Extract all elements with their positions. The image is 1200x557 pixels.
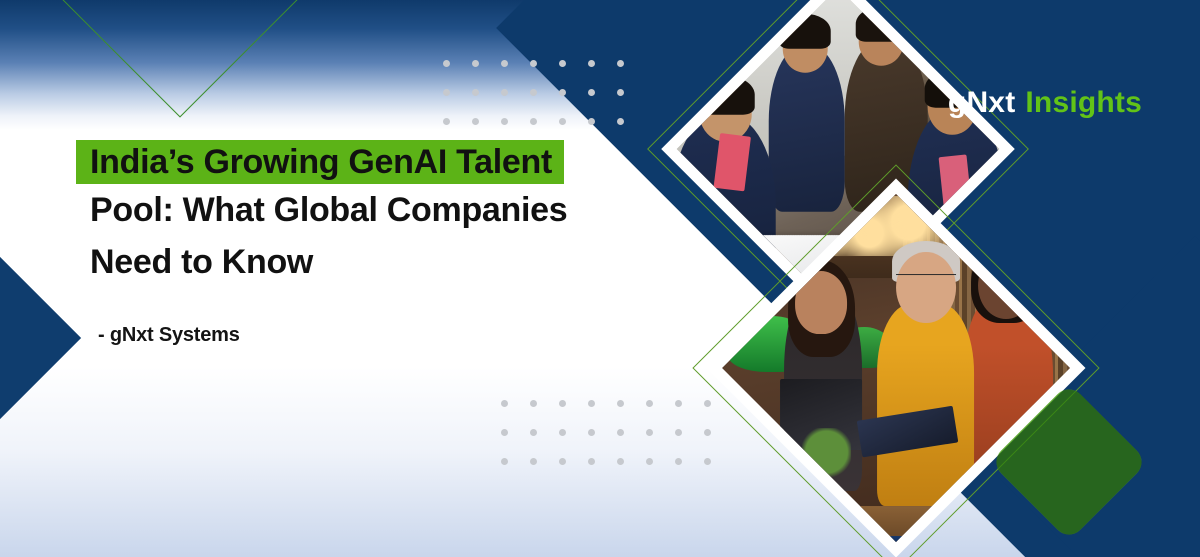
dot: [559, 429, 566, 436]
dot: [704, 458, 711, 465]
dot: [617, 429, 624, 436]
dot: [617, 60, 624, 67]
person-head: [795, 271, 847, 335]
dot: [530, 429, 537, 436]
dot: [588, 458, 595, 465]
dot: [472, 89, 479, 96]
dot: [675, 400, 682, 407]
insights-banner: India’s Growing GenAI Talent Pool: What …: [0, 0, 1200, 557]
dot: [617, 400, 624, 407]
dot: [472, 60, 479, 67]
page-title-line-2: Pool: What Global Companies: [78, 184, 678, 236]
brand-logo[interactable]: gNxtInsights: [948, 86, 1142, 120]
dot: [704, 400, 711, 407]
dot: [617, 89, 624, 96]
dot: [501, 429, 508, 436]
dot: [646, 458, 653, 465]
dot: [501, 60, 508, 67]
coffee-cup: [703, 281, 755, 311]
dot: [501, 89, 508, 96]
dot: [530, 458, 537, 465]
dot: [559, 60, 566, 67]
dot: [530, 60, 537, 67]
dot: [530, 118, 537, 125]
headline-block: India’s Growing GenAI Talent Pool: What …: [78, 140, 678, 347]
dot: [675, 458, 682, 465]
dot: [559, 89, 566, 96]
dot: [443, 89, 450, 96]
dot: [617, 118, 624, 125]
dot-grid-top: [443, 60, 624, 125]
dot: [501, 458, 508, 465]
dot: [588, 118, 595, 125]
dot: [443, 118, 450, 125]
dot: [588, 89, 595, 96]
eyeglasses-icon: [896, 275, 956, 290]
dot: [588, 60, 595, 67]
dot: [588, 429, 595, 436]
dot: [501, 118, 508, 125]
dot: [559, 118, 566, 125]
dot: [646, 400, 653, 407]
dot-grid-bottom: [501, 400, 711, 465]
logo-suffix-text: Insights: [1025, 86, 1142, 119]
dot: [472, 118, 479, 125]
page-title-line-1: India’s Growing GenAI Talent: [76, 140, 564, 184]
dot: [675, 429, 682, 436]
dot: [530, 89, 537, 96]
dot: [443, 60, 450, 67]
page-title-line-3: Need to Know: [78, 236, 678, 288]
dot: [530, 400, 537, 407]
byline: - gNxt Systems: [78, 324, 678, 347]
dot: [704, 429, 711, 436]
dot: [617, 458, 624, 465]
person-man-mustard-shirt: [877, 304, 974, 506]
dot: [501, 400, 508, 407]
logo-brand-text: gNxt: [948, 86, 1015, 119]
dot: [646, 429, 653, 436]
dot: [559, 458, 566, 465]
dot: [559, 400, 566, 407]
dot: [588, 400, 595, 407]
